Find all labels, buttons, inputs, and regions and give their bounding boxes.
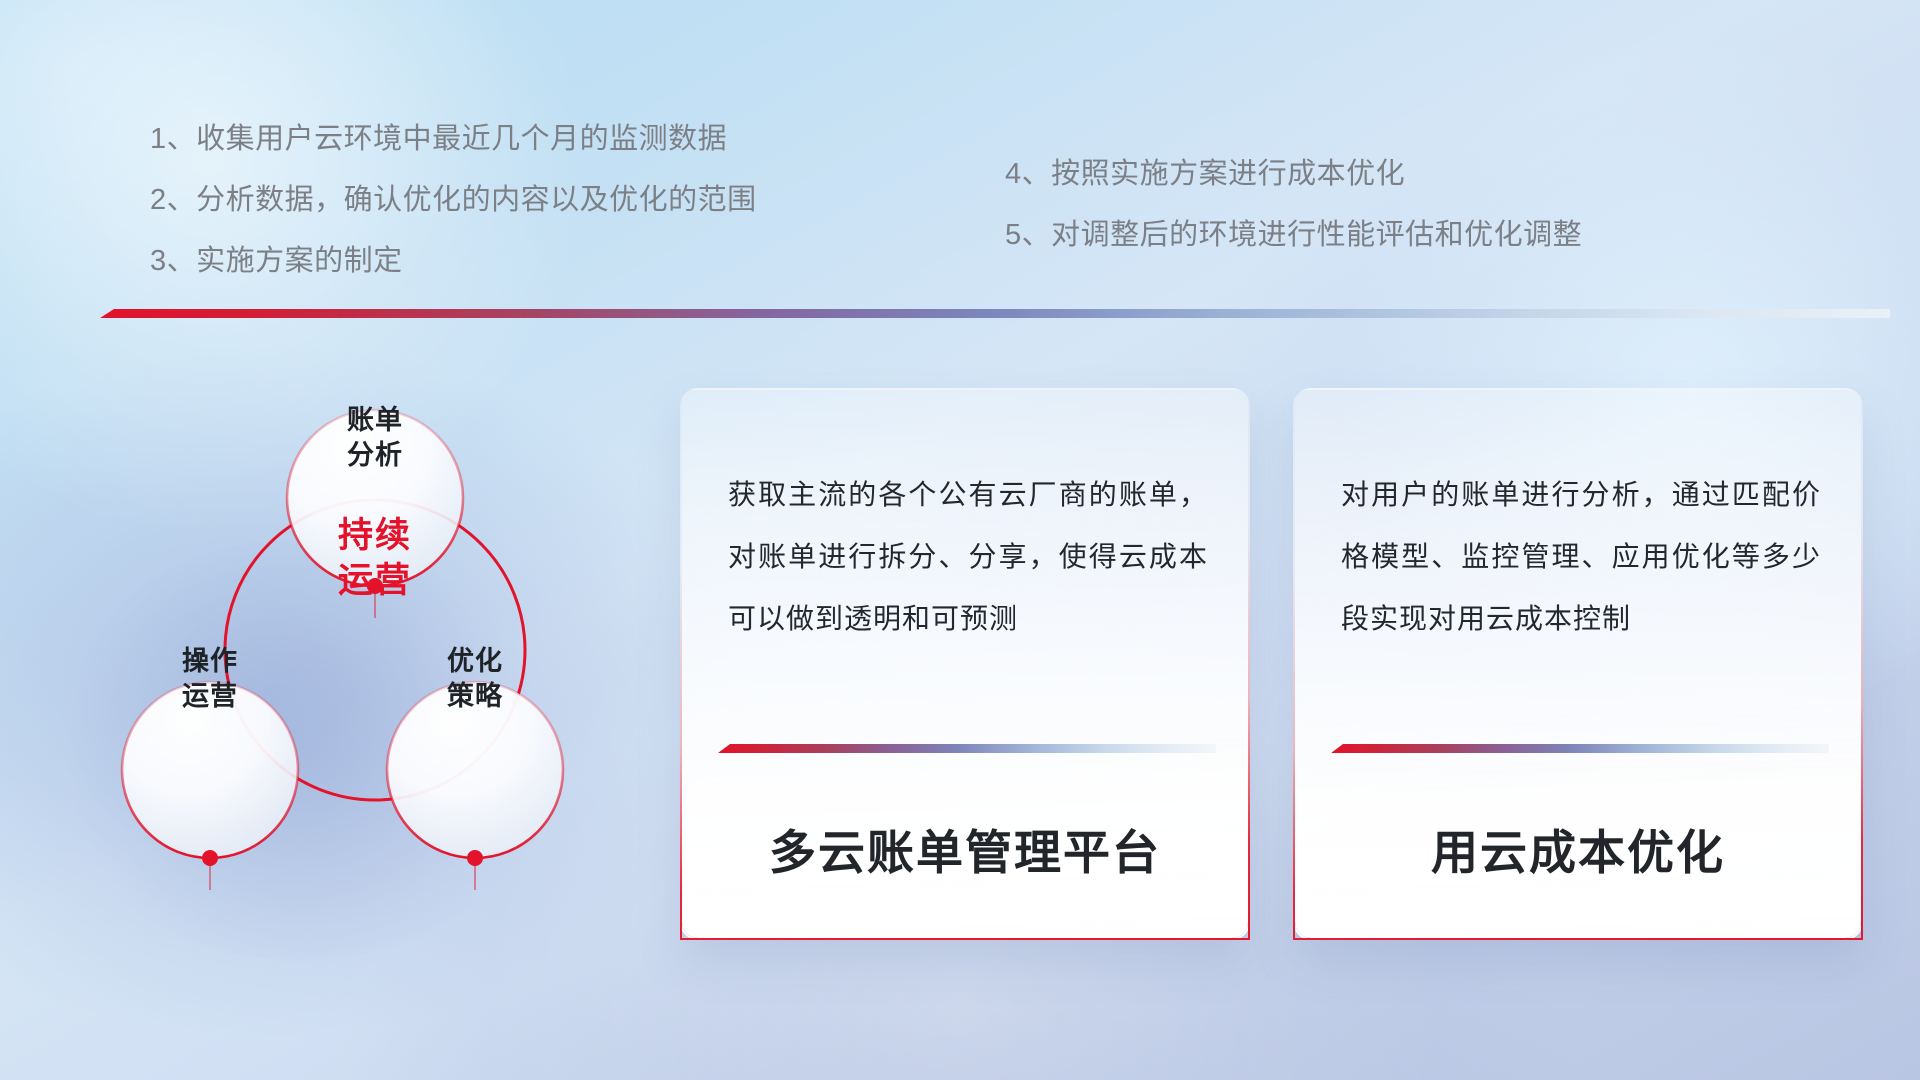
step-item: 4、按照实施方案进行成本优化 [1005,160,1582,189]
steps-list-right: 4、按照实施方案进行成本优化 5、对调整后的环境进行性能评估和优化调整 [1005,160,1582,250]
step-item: 2、分析数据，确认优化的内容以及优化的范围 [150,186,757,215]
bubble-label-operations: 操作 运营 [135,644,285,713]
card-title: 用云成本优化 [1295,814,1861,883]
feature-card-cloud-cost-optimization[interactable]: 对用户的账单进行分析，通过匹配价格模型、监控管理、应用优化等多少段实现对用云成本… [1293,388,1863,940]
bubble-label-billing-analysis: 账单 分析 [300,403,450,472]
step-item: 3、实施方案的制定 [150,247,757,276]
card-title: 多云账单管理平台 [682,814,1248,883]
diagram-center-label: 持续 运营 [275,514,475,604]
step-item: 1、收集用户云环境中最近几个月的监测数据 [150,125,757,154]
dot-operations [202,850,218,866]
steps-list-left: 1、收集用户云环境中最近几个月的监测数据 2、分析数据，确认优化的内容以及优化的… [150,125,757,276]
card-description: 对用户的账单进行分析，通过匹配价格模型、监控管理、应用优化等多少段实现对用云成本… [1341,464,1821,650]
step-item: 5、对调整后的环境进行性能评估和优化调整 [1005,221,1582,250]
bubble-label-optimization-strategy: 优化 策略 [400,644,550,713]
continuous-operations-diagram: 账单 分析 操作 运营 优化 策略 持续 运营 [95,350,655,950]
card-accent-rule [1331,744,1829,753]
section-divider [100,309,1890,318]
card-description: 获取主流的各个公有云厂商的账单，对账单进行拆分、分享，使得云成本可以做到透明和可… [728,464,1208,650]
feature-card-multi-cloud-billing-platform[interactable]: 获取主流的各个公有云厂商的账单，对账单进行拆分、分享，使得云成本可以做到透明和可… [680,388,1250,940]
card-accent-rule [718,744,1216,753]
slide-canvas: 1、收集用户云环境中最近几个月的监测数据 2、分析数据，确认优化的内容以及优化的… [0,0,1920,1080]
dot-optimization-strategy [467,850,483,866]
